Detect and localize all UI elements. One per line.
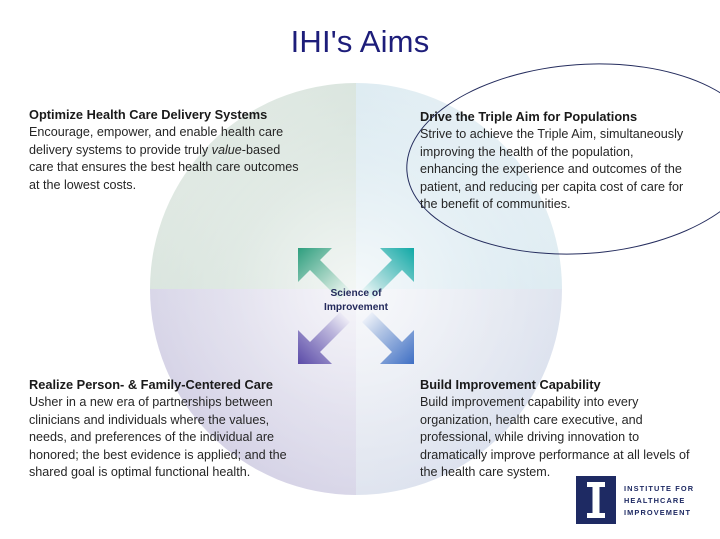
aim-heading: Realize Person- & Family-Centered Care — [29, 376, 349, 393]
logo-line-1: INSTITUTE FOR — [624, 484, 694, 493]
ihi-logo-mark-icon — [576, 476, 616, 524]
slide-canvas: IHI's Aims — [0, 0, 720, 539]
logo-line-2: HEALTHCARE — [624, 496, 694, 505]
arrow-bottom-left-icon — [298, 312, 350, 364]
ihi-logo: INSTITUTE FOR HEALTHCARE IMPROVEMENT — [576, 474, 708, 526]
arrow-bottom-right-icon — [362, 312, 414, 364]
logo-line-3: IMPROVEMENT — [624, 508, 694, 517]
aim-body: Encourage, empower, and enable health ca… — [29, 124, 349, 194]
aim-body: Build improvement capability into every … — [420, 394, 720, 481]
aim-body: Strive to achieve the Triple Aim, simult… — [420, 126, 720, 213]
ihi-logo-text: INSTITUTE FOR HEALTHCARE IMPROVEMENT — [624, 484, 694, 517]
aim-build-improvement-capability: Build Improvement Capability Build impro… — [420, 376, 720, 481]
aim-heading: Optimize Health Care Delivery Systems — [29, 106, 349, 123]
aim-body: Usher in a new era of partnerships betwe… — [29, 394, 349, 481]
arrow-top-right-icon — [362, 248, 414, 300]
aim-heading: Build Improvement Capability — [420, 376, 720, 393]
aim-optimize-health-care-delivery-systems: Optimize Health Care Delivery Systems En… — [29, 106, 349, 194]
aim-heading: Drive the Triple Aim for Populations — [420, 108, 720, 125]
page-title: IHI's Aims — [0, 24, 720, 60]
aim-drive-the-triple-aim-for-populations: Drive the Triple Aim for Populations Str… — [420, 108, 720, 213]
emphasis-value: value — [212, 143, 242, 157]
aim-realize-person-and-family-centered-care: Realize Person- & Family-Centered Care U… — [29, 376, 349, 481]
arrow-top-left-icon — [298, 248, 350, 300]
science-of-improvement-arrows-icon — [296, 246, 416, 366]
